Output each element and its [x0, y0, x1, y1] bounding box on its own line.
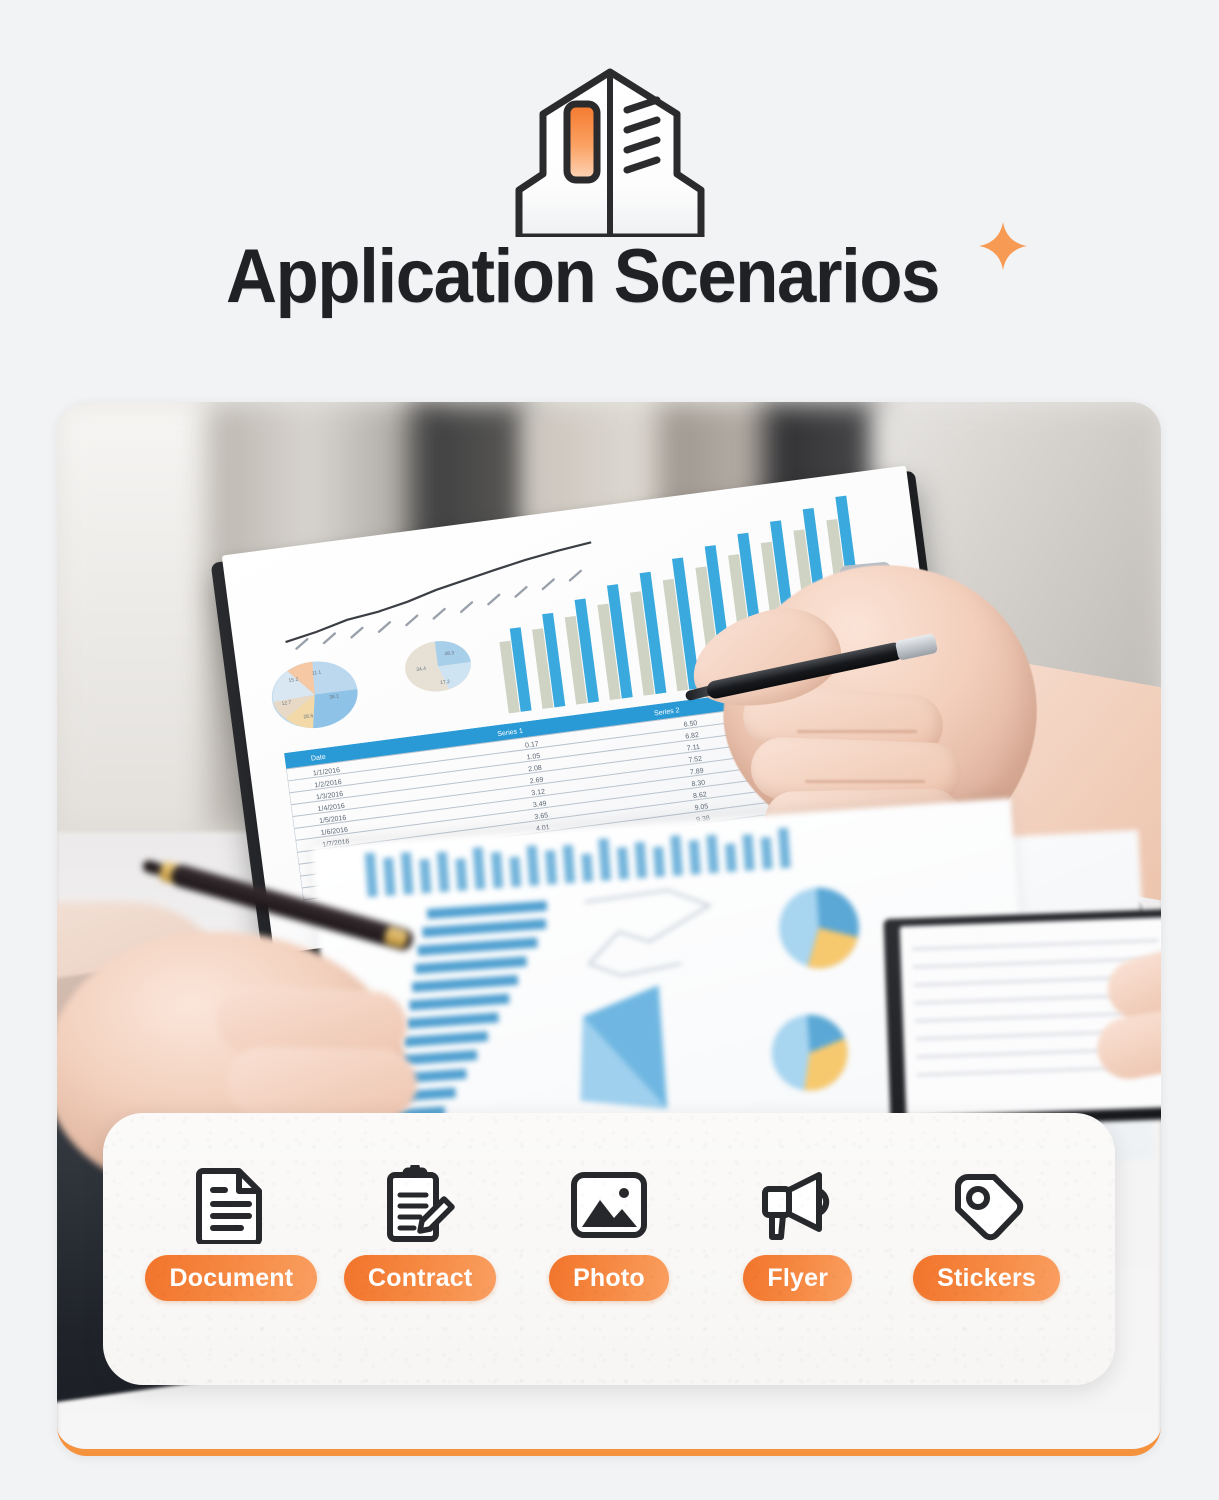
report-pie-chart-1: 38.128.6 12.715.2 11.1	[267, 655, 363, 734]
scenario-item-flyer[interactable]: Flyer	[710, 1165, 886, 1301]
svg-text:17.2: 17.2	[440, 679, 451, 686]
scenario-item-document[interactable]: Document	[143, 1165, 319, 1301]
building-skyscraper-icon	[505, 62, 715, 237]
svg-text:15.2: 15.2	[288, 677, 299, 684]
scenario-label: Stickers	[913, 1255, 1060, 1301]
svg-text:38.1: 38.1	[329, 694, 340, 701]
megaphone-icon	[757, 1165, 839, 1245]
svg-text:28.6: 28.6	[303, 713, 314, 720]
scenario-item-stickers[interactable]: Stickers	[899, 1165, 1075, 1301]
page-title-row: Application Scenarios	[0, 232, 1219, 322]
sparkle-four-point-icon	[977, 220, 1029, 272]
scenarios-card: Document Contract	[103, 1113, 1115, 1385]
scenario-list: Document Contract	[103, 1165, 1115, 1301]
document-file-icon	[195, 1165, 267, 1245]
scenario-label: Photo	[549, 1255, 669, 1301]
svg-text:34.4: 34.4	[416, 666, 427, 673]
svg-text:11.1: 11.1	[312, 670, 322, 677]
page-title: Application Scenarios	[226, 232, 939, 322]
scenario-item-contract[interactable]: Contract	[332, 1165, 508, 1301]
svg-text:48.3: 48.3	[444, 650, 455, 657]
scenario-label: Document	[145, 1255, 317, 1301]
scenario-item-photo[interactable]: Photo	[521, 1165, 697, 1301]
fingers-right-edge	[1097, 942, 1161, 1132]
price-tag-icon	[948, 1165, 1026, 1245]
finger	[226, 1046, 417, 1119]
page-header: Application Scenarios	[0, 0, 1219, 400]
brand-logo	[0, 62, 1219, 237]
clipboard-pencil-icon	[382, 1165, 458, 1245]
report-pie-chart-2: 48.334.417.2	[401, 636, 475, 696]
svg-text:12.7: 12.7	[281, 700, 292, 707]
image-picture-icon	[569, 1165, 649, 1245]
scenario-label: Flyer	[743, 1255, 852, 1301]
scenario-label: Contract	[344, 1255, 496, 1301]
